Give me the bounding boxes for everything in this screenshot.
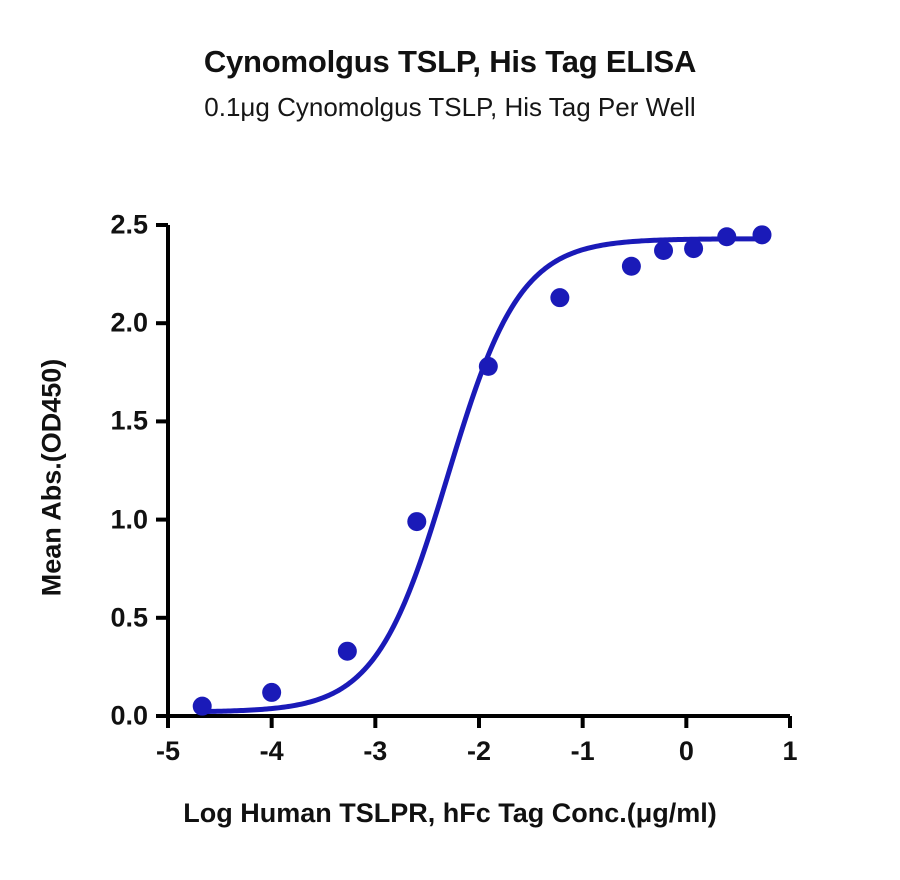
y-tick-label: 2.5 [110, 210, 148, 241]
data-point [654, 241, 673, 260]
data-point [753, 225, 772, 244]
x-tick-label: -1 [571, 736, 595, 767]
data-points [193, 225, 772, 715]
y-tick-label: 0.0 [110, 701, 148, 732]
plot-area [0, 0, 900, 880]
elisa-chart-figure: Cynomolgus TSLP, His Tag ELISA 0.1μg Cyn… [0, 0, 900, 880]
x-tick-label: -4 [260, 736, 284, 767]
y-tick-label: 1.0 [110, 504, 148, 535]
data-point [407, 512, 426, 531]
x-tick-label: 1 [782, 736, 797, 767]
data-point [684, 239, 703, 258]
x-tick-label: -2 [467, 736, 491, 767]
y-tick-label: 2.0 [110, 308, 148, 339]
x-tick-label: -5 [156, 736, 180, 767]
data-point [622, 257, 641, 276]
data-point [479, 357, 498, 376]
data-point [193, 697, 212, 716]
y-tick-label: 0.5 [110, 602, 148, 633]
data-point [338, 642, 357, 661]
x-tick-label: 0 [679, 736, 694, 767]
x-tick-label: -3 [363, 736, 387, 767]
data-point [262, 683, 281, 702]
data-point [550, 288, 569, 307]
axis-spines [168, 225, 790, 716]
data-point [717, 227, 736, 246]
axis-ticks [156, 225, 790, 728]
y-tick-label: 1.5 [110, 406, 148, 437]
fit-curve [202, 239, 762, 712]
